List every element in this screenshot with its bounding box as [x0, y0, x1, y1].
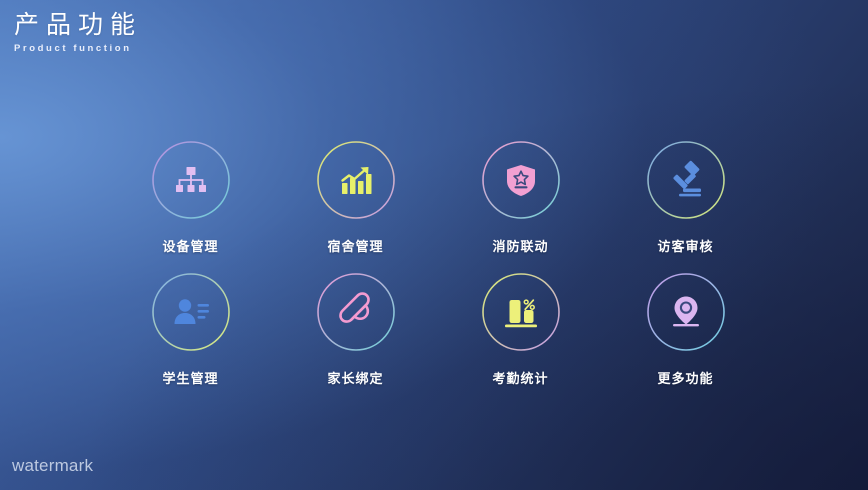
org-chart-icon	[170, 159, 212, 201]
paperclip-icon	[335, 291, 377, 333]
page-title: 产品功能	[14, 10, 142, 40]
feature-item-parent-binding[interactable]: 家长绑定	[273, 272, 438, 390]
shield-star-icon	[500, 159, 542, 201]
bar-chart-percent-icon	[500, 291, 542, 333]
feature-label: 考勤统计	[492, 368, 548, 387]
feature-item-attendance-statistics[interactable]: 考勤统计	[438, 272, 603, 390]
bar-chart-arrow-up-icon	[335, 159, 377, 201]
feature-grid: 设备管理	[108, 140, 768, 390]
feature-label: 宿舍管理	[327, 236, 383, 255]
watermark-label: watermark	[12, 456, 93, 476]
feature-item-more-functions[interactable]: 更多功能	[603, 272, 768, 390]
slide-header: 产品功能 Product function	[14, 10, 142, 56]
feature-item-student-management[interactable]: 学生管理	[108, 272, 273, 390]
icon-ring	[151, 272, 231, 352]
gavel-icon	[665, 159, 707, 201]
feature-label: 家长绑定	[327, 368, 383, 387]
feature-label: 设备管理	[162, 236, 218, 255]
feature-item-device-management[interactable]: 设备管理	[108, 140, 273, 258]
page-subtitle: Product function	[14, 42, 142, 56]
feature-label: 消防联动	[492, 236, 548, 255]
feature-label: 更多功能	[657, 368, 713, 387]
feature-label: 学生管理	[162, 368, 218, 387]
icon-ring	[481, 140, 561, 220]
slide-canvas: 产品功能 Product function	[0, 0, 868, 490]
icon-ring	[316, 140, 396, 220]
feature-label: 访客审核	[657, 236, 713, 255]
icon-ring	[151, 140, 231, 220]
feature-item-dormitory-management[interactable]: 宿舍管理	[273, 140, 438, 258]
feature-item-fire-linkage[interactable]: 消防联动	[438, 140, 603, 258]
icon-ring	[646, 272, 726, 352]
person-list-icon	[170, 291, 212, 333]
location-pin-icon	[665, 291, 707, 333]
icon-ring	[481, 272, 561, 352]
icon-ring	[646, 140, 726, 220]
icon-ring	[316, 272, 396, 352]
feature-item-visitor-review[interactable]: 访客审核	[603, 140, 768, 258]
